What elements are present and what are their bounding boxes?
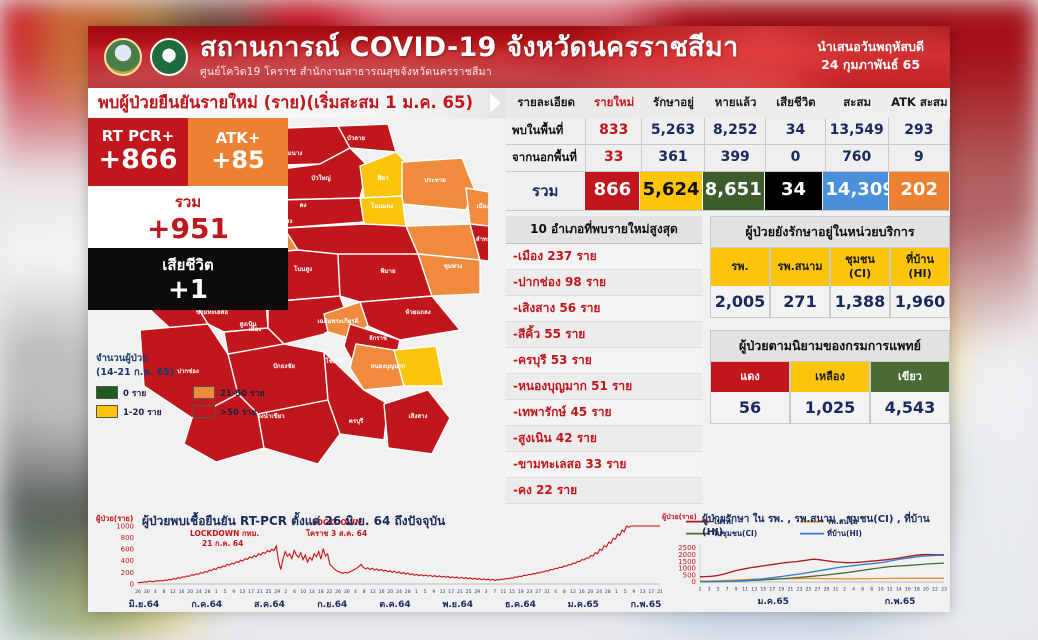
table-summary-cell: 5,624 <box>640 172 702 210</box>
table-row: จากนอกพื้นที่3336139907609 <box>506 145 950 172</box>
top-district-item: -สีคิ้ว 55 ราย <box>506 322 702 348</box>
top-district-item: -เสิงสาง 56 ราย <box>506 296 702 322</box>
treatment-x-tick: 20 <box>923 587 929 593</box>
legend-swatch-green <box>96 386 118 399</box>
legend-label-3: >50 ราย <box>220 405 256 419</box>
top-district-item: -หนองบุญมาก 51 ราย <box>506 374 702 400</box>
treatment-x-tick: 2 <box>843 587 846 593</box>
district-label: เมืองยาง <box>477 202 488 210</box>
table-cell: 8,252 <box>705 118 766 144</box>
treatment-chart-title: ผู้ป่วยรักษา ใน รพ. , รพ.สนาม , ชุมชน(CI… <box>702 512 950 538</box>
pcr-x-tick: 29 <box>274 589 280 595</box>
district-label: โนนแดง <box>370 202 393 210</box>
pcr-month-tick: ธ.ค.64 <box>505 600 536 610</box>
pcr-daily-chart: ผู้ป่วย(ราย) ผู้ป่วยพบเชื้อยืนยัน RT-PCR… <box>94 512 662 612</box>
pcr-x-tick: 30 <box>144 589 150 595</box>
pcr-x-tick: 17 <box>448 589 454 595</box>
pcr-x-tick: 16 <box>579 589 585 595</box>
pcr-month-tick: พ.ย.64 <box>442 600 473 610</box>
treatment-x-tick: 19 <box>778 587 784 593</box>
service-unit-value: 1,960 <box>891 286 949 317</box>
pcr-x-tick: 20 <box>187 589 193 595</box>
severity-value: 56 <box>711 392 789 423</box>
district-label: ขามทะเลสอ <box>196 309 228 316</box>
top-districts-panel: 10 อำเภอที่พบรายใหม่สูงสุด -เมือง 237 รา… <box>506 216 702 504</box>
pcr-x-tick: 18 <box>318 589 324 595</box>
service-unit-column: รพ.2,005 <box>710 248 770 318</box>
pcr-x-tick: 26 <box>335 589 341 595</box>
table-cell: 760 <box>826 145 889 171</box>
severity-title: ผู้ป่วยตามนิยามของกรมการแพทย์ <box>710 330 950 362</box>
pcr-x-tick: 22 <box>326 589 332 595</box>
table-col-header: รายใหม่ <box>586 94 642 112</box>
table-row: พบในพื้นที่8335,2638,2523413,549293 <box>506 118 950 145</box>
top-district-item: -ปากช่อง 98 ราย <box>506 270 702 296</box>
pcr-x-tick: 8 <box>163 589 166 595</box>
pcr-month-tick: มิ.ย.64 <box>129 599 160 610</box>
pcr-x-tick: 24 <box>196 589 202 595</box>
pcr-x-tick: 8 <box>563 589 566 595</box>
treatment-x-tick: 25 <box>806 587 812 593</box>
district-label: ลำทะเมนชัย <box>476 235 488 243</box>
legend-title-line-2: (14-21 ก.พ. 65) <box>96 366 284 380</box>
treatment-x-tick: 18 <box>914 587 920 593</box>
legend-item-0: 0 ราย <box>96 386 187 400</box>
legend-label-2: 1-20 ราย <box>123 405 162 419</box>
pcr-x-tick: 10 <box>300 589 306 595</box>
table-cell: 9 <box>889 145 950 171</box>
pcr-x-tick: 13 <box>239 589 245 595</box>
treatment-month-tick: ม.ค.65 <box>758 597 789 607</box>
pcr-x-tick: 25 <box>266 589 272 595</box>
service-unit-header-line2: (CI) <box>849 267 871 281</box>
map-legend: จำนวนผู้ป่วย (14-21 ก.พ. 65) 0 ราย 21-50… <box>96 352 284 419</box>
district-label: ครบุรี <box>349 417 364 425</box>
pcr-y-tick: 200 <box>121 569 134 577</box>
pcr-x-tick: 1 <box>215 589 218 595</box>
treatment-x-tick: 31 <box>833 587 839 593</box>
service-unit-header-line1: รพ.สนาม <box>778 260 823 274</box>
table-row-label: พบในพื้นที่ <box>506 118 586 144</box>
pcr-x-tick: 16 <box>179 589 185 595</box>
treatment-x-tick: 11 <box>742 587 748 593</box>
pcr-x-tick: 17 <box>648 589 654 595</box>
table-col-header: หายแล้ว <box>705 94 766 112</box>
table-cell: 33 <box>586 145 642 171</box>
legend-title-line-1: จำนวนผู้ป่วย <box>96 352 284 366</box>
pcr-x-tick: 15 <box>509 589 515 595</box>
service-unit-header: ชุมชน(CI) <box>831 248 889 286</box>
pcr-x-tick: 31 <box>544 589 550 595</box>
pcr-x-tick: 13 <box>440 589 446 595</box>
treatment-x-tick: 9 <box>735 587 738 593</box>
kpi-rt-pcr-label: RT PCR+ <box>102 129 174 144</box>
pcr-x-tick: 23 <box>527 589 533 595</box>
treatment-x-tick: 17 <box>769 587 775 593</box>
pcr-month-tick: ต.ค.64 <box>379 600 410 610</box>
table-col-header: ATK สะสม <box>889 94 950 112</box>
pcr-x-tick: 19 <box>518 589 524 595</box>
service-unit-header-line1: ที่บ้าน <box>906 253 934 267</box>
pcr-x-tick: 12 <box>170 589 176 595</box>
service-unit-column: ที่บ้าน(HI)1,960 <box>890 248 950 318</box>
pcr-month-tick: ก.ย.64 <box>317 600 347 610</box>
district-label: พิมาย <box>379 267 395 275</box>
service-units-panel: ผู้ป่วยยังรักษาอยู่ในหน่วยบริการ รพ.2,00… <box>710 216 950 318</box>
legend-items: 0 ราย 21-50 ราย 1-20 ราย >50 ราย <box>96 386 284 419</box>
pcr-x-tick: 4 <box>354 589 357 595</box>
treatment-x-tick: 3 <box>708 587 711 593</box>
page-title: สถานการณ์ COVID-19 จังหวัดนครราชสีมา <box>200 34 739 62</box>
table-col-header: รักษาอยู่ <box>642 94 705 112</box>
pcr-x-tick: 20 <box>587 589 593 595</box>
service-unit-value: 1,388 <box>831 286 889 317</box>
pcr-x-tick: 5 <box>224 589 227 595</box>
district-label: โนนสูง <box>293 265 312 274</box>
district-label: ประทาย <box>424 176 446 184</box>
district-label: เฉลิมพระเกียรติ <box>317 317 358 325</box>
pcr-x-tick: 28 <box>405 589 411 595</box>
pcr-x-tick: 25 <box>466 589 472 595</box>
severity-value: 1,025 <box>791 392 869 423</box>
pcr-y-tick: 600 <box>121 546 134 554</box>
district-label: บัวลาย <box>347 134 365 142</box>
table-cell: 293 <box>889 118 950 144</box>
pcr-x-tick: 16 <box>379 589 385 595</box>
kpi-row: RT PCR+ +866 ATK+ +85 <box>88 118 288 186</box>
service-units-title: ผู้ป่วยยังรักษาอยู่ในหน่วยบริการ <box>710 216 950 248</box>
provincial-seal-icon <box>104 38 142 76</box>
pcr-x-tick: 28 <box>605 589 611 595</box>
table-row-label: จากนอกพื้นที่ <box>506 145 586 171</box>
lead-banner: พบผู้ป่วยยืนยันรายใหม่ (ราย)(เริ่มสะสม 1… <box>88 88 488 118</box>
top-district-item: -เมือง 237 ราย <box>506 244 702 270</box>
pcr-x-tick: 27 <box>535 589 541 595</box>
pcr-x-tick: 5 <box>424 589 427 595</box>
treatment-x-tick: 8 <box>870 587 873 593</box>
kpi-deaths-value: +1 <box>168 277 208 304</box>
treatment-x-tick: 29 <box>824 587 830 593</box>
legend-item-2: 1-20 ราย <box>96 405 187 419</box>
treatment-x-tick: 23 <box>796 587 802 593</box>
pcr-chart-title: ผู้ป่วยพบเชื้อยืนยัน RT-PCR ตั้งแต่ 26 ม… <box>142 512 445 531</box>
pcr-y-tick: 400 <box>121 557 134 565</box>
kpi-total-value: +951 <box>147 214 229 243</box>
kpi-deaths: เสียชีวิต +1 <box>88 248 288 310</box>
pcr-x-tick: 9 <box>632 589 635 595</box>
date-line-1: นำเสนอวันพฤหัสบดี <box>817 38 924 56</box>
pcr-x-tick: 28 <box>205 589 211 595</box>
treatment-x-tick: 10 <box>878 587 884 593</box>
lead-text: พบผู้ป่วยยืนยันรายใหม่ (ราย)(เริ่มสะสม 1… <box>98 90 473 116</box>
district-label: ชุมพวง <box>444 263 463 270</box>
pcr-x-tick: 7 <box>493 589 496 595</box>
table-col-header: เสียชีวิต <box>766 94 825 112</box>
treatment-y-tick: 1500 <box>678 558 696 566</box>
pcr-x-tick: 30 <box>344 589 350 595</box>
treatment-x-tick: 7 <box>726 587 729 593</box>
legend-swatch-yellow <box>96 405 118 418</box>
pcr-x-tick: 1 <box>415 589 418 595</box>
summary-table: พบในพื้นที่8335,2638,2523413,549293จากนอ… <box>506 118 950 211</box>
treatment-x-tick: 13 <box>751 587 757 593</box>
pcr-x-tick: 26 <box>135 589 141 595</box>
pcr-month-tick: ส.ค.64 <box>254 600 285 610</box>
legend-swatch-orange <box>193 386 215 399</box>
pcr-x-tick: 12 <box>370 589 376 595</box>
legend-item-3: >50 ราย <box>193 405 284 419</box>
district-label: จักราช <box>369 334 388 342</box>
treatment-x-tick: 6 <box>861 587 864 593</box>
service-unit-value: 271 <box>771 286 829 317</box>
kpi-atk-label: ATK+ <box>216 131 261 146</box>
severity-column: เขียว4,543 <box>870 362 950 424</box>
top-district-item: -ขามทะเลสอ 33 ราย <box>506 452 702 478</box>
service-unit-header-line1: รพ. <box>731 260 748 274</box>
treatment-x-tick: 15 <box>760 587 766 593</box>
header-subtitle: ศูนย์โควิด19 โคราช สำนักงานสาธารณสุขจังห… <box>200 63 739 80</box>
arrow-divider-icon <box>488 88 506 118</box>
table-summary-row: รวม8665,6248,6513414,309202 <box>506 172 950 211</box>
treatment-y-tick: 2500 <box>678 544 696 552</box>
service-unit-header: รพ. <box>711 248 769 286</box>
legend-label-1: 21-50 ราย <box>220 386 264 400</box>
table-summary-cell: 202 <box>889 172 950 210</box>
pcr-x-tick: 5 <box>624 589 627 595</box>
severity-column: เหลือง1,025 <box>790 362 870 424</box>
pcr-x-tick: 8 <box>363 589 366 595</box>
presentation-date: นำเสนอวันพฤหัสบดี 24 กุมภาพันธ์ 65 <box>817 38 924 74</box>
table-summary-cell: 866 <box>585 172 640 210</box>
kpi-total-label: รวม <box>175 190 201 214</box>
district-label: บัวใหญ่ <box>311 174 330 182</box>
service-unit-header-line1: ชุมชน <box>845 253 875 267</box>
table-cell: 0 <box>766 145 825 171</box>
pcr-x-tick: 14 <box>309 589 315 595</box>
poster-header: ⚕ สถานการณ์ COVID-19 จังหวัดนครราชสีมา ศ… <box>88 26 950 88</box>
pcr-x-tick: 12 <box>570 589 576 595</box>
service-units-columns: รพ.2,005รพ.สนาม271ชุมชน(CI)1,388ที่บ้าน(… <box>710 248 950 318</box>
pcr-x-tick: 4 <box>154 589 157 595</box>
date-line-2: 24 กุมภาพันธ์ 65 <box>817 56 924 74</box>
top-districts-title: 10 อำเภอที่พบรายใหม่สูงสุด <box>506 216 702 244</box>
pcr-y-tick: 0 <box>130 580 134 588</box>
header-text-block: สถานการณ์ COVID-19 จังหวัดนครราชสีมา ศูน… <box>200 34 739 80</box>
pcr-x-tick: 13 <box>640 589 646 595</box>
pcr-x-tick: 1 <box>615 589 618 595</box>
district-label: สูงเนิน <box>239 320 257 329</box>
pcr-month-tick: ก.ค.64 <box>191 600 222 610</box>
pcr-x-tick: 17 <box>248 589 254 595</box>
treatment-x-tick: 23 <box>941 587 947 593</box>
severity-panel: ผู้ป่วยตามนิยามของกรมการแพทย์ แดง56เหลือ… <box>710 330 950 424</box>
legend-swatch-red <box>193 405 215 418</box>
table-cell: 833 <box>586 118 642 144</box>
district-label: โชคชัย <box>324 357 345 365</box>
pcr-month-tick: ก.พ.65 <box>631 600 662 610</box>
pcr-x-tick: 21 <box>257 589 263 595</box>
poster-body: พบผู้ป่วยยืนยันรายใหม่ (ราย)(เริ่มสะสม 1… <box>88 88 950 612</box>
table-cell: 361 <box>642 145 705 171</box>
table-summary-label: รวม <box>506 172 585 210</box>
treatment-settings-chart: ผู้ป่วย(ราย) ผู้ป่วยรักษา ใน รพ. , รพ.สน… <box>662 512 950 612</box>
district-label: คง <box>299 202 306 209</box>
top-district-item: -คง 22 ราย <box>506 478 702 504</box>
service-unit-column: ชุมชน(CI)1,388 <box>830 248 890 318</box>
pcr-annotation-0-sub: 21 ก.ค. 64 <box>202 539 243 548</box>
treatment-x-tick: 27 <box>815 587 821 593</box>
district-label: สีดา <box>377 174 388 182</box>
table-cell: 5,263 <box>642 118 705 144</box>
table-cell: 399 <box>705 145 766 171</box>
table-summary-cell: 8,651 <box>703 172 765 210</box>
pcr-x-tick: 24 <box>596 589 602 595</box>
severity-columns: แดง56เหลือง1,025เขียว4,543 <box>710 362 950 424</box>
ministry-of-public-health-icon: ⚕ <box>150 38 188 76</box>
treatment-x-tick: 12 <box>887 587 893 593</box>
pcr-x-tick: 9 <box>232 589 235 595</box>
service-unit-header: รพ.สนาม <box>771 248 829 286</box>
table-cell: 34 <box>766 118 825 144</box>
severity-column: แดง56 <box>710 362 790 424</box>
treatment-x-tick: 1 <box>699 587 702 593</box>
district-label: หนองบุญมาก <box>370 363 405 370</box>
table-summary-cell: 14,309 <box>823 172 889 210</box>
service-unit-value: 2,005 <box>711 286 769 317</box>
severity-header: เขียว <box>871 362 949 392</box>
pcr-x-tick: 24 <box>396 589 402 595</box>
kpi-atk-value: +85 <box>211 148 265 173</box>
treatment-x-tick: 4 <box>852 587 855 593</box>
legend-label-0: 0 ราย <box>123 386 146 400</box>
service-unit-header: ที่บ้าน(HI) <box>891 248 949 286</box>
pcr-x-tick: 6 <box>293 589 296 595</box>
table-summary-cell: 34 <box>765 172 824 210</box>
kpi-atk: ATK+ +85 <box>188 118 288 186</box>
district-label: เสิงสาง <box>409 412 428 420</box>
kpi-rt-pcr-value: +866 <box>99 146 178 174</box>
severity-value: 4,543 <box>871 392 949 423</box>
top-districts-list: -เมือง 237 ราย-ปากช่อง 98 ราย-เสิงสาง 56… <box>506 244 702 504</box>
pcr-x-tick: 11 <box>500 589 506 595</box>
treatment-chart-ylabel: ผู้ป่วย(ราย) <box>662 512 697 523</box>
severity-header: เหลือง <box>791 362 869 392</box>
pcr-x-tick: 4 <box>554 589 557 595</box>
kpi-rt-pcr: RT PCR+ +866 <box>88 118 188 186</box>
pcr-x-tick: 20 <box>387 589 393 595</box>
kpi-total: รวม +951 <box>88 186 288 248</box>
pcr-chart-ylabel: ผู้ป่วย(ราย) <box>96 513 133 525</box>
top-district-item: -เทพารักษ์ 45 ราย <box>506 400 702 426</box>
legend-item-1: 21-50 ราย <box>193 386 284 400</box>
pcr-x-tick: 2 <box>284 589 287 595</box>
treatment-x-tick: 22 <box>932 587 938 593</box>
top-district-item: -สูงเนิน 42 ราย <box>506 426 702 452</box>
table-col-header: รายละเอียด <box>506 94 586 112</box>
treatment-x-tick: 21 <box>787 587 793 593</box>
pcr-y-tick: 800 <box>121 534 134 542</box>
summary-table-header: รายละเอียดรายใหม่รักษาอยู่หายแล้วเสียชีว… <box>506 88 950 118</box>
kpi-deaths-label: เสียชีวิต <box>162 253 213 277</box>
district-label: ห้วยแถลง <box>405 308 430 316</box>
treatment-x-tick: 5 <box>717 587 720 593</box>
pcr-x-tick: 29 <box>474 589 480 595</box>
table-col-header: สะสม <box>826 94 889 112</box>
pcr-month-tick: ม.ค.65 <box>568 600 599 610</box>
table-cell: 13,549 <box>826 118 889 144</box>
pcr-x-tick: 9 <box>432 589 435 595</box>
service-unit-column: รพ.สนาม271 <box>770 248 830 318</box>
service-unit-header-line2: (HI) <box>908 267 931 281</box>
pcr-x-tick: 21 <box>457 589 463 595</box>
covid-dashboard-poster: ⚕ สถานการณ์ COVID-19 จังหวัดนครราชสีมา ศ… <box>88 26 950 612</box>
treatment-x-tick: 14 <box>896 587 902 593</box>
treatment-month-tick: ก.พ.65 <box>885 597 916 607</box>
pcr-x-tick: 3 <box>485 589 488 595</box>
top-district-item: -ครบุรี 53 ราย <box>506 348 702 374</box>
treatment-x-tick: 16 <box>905 587 911 593</box>
severity-header: แดง <box>711 362 789 392</box>
